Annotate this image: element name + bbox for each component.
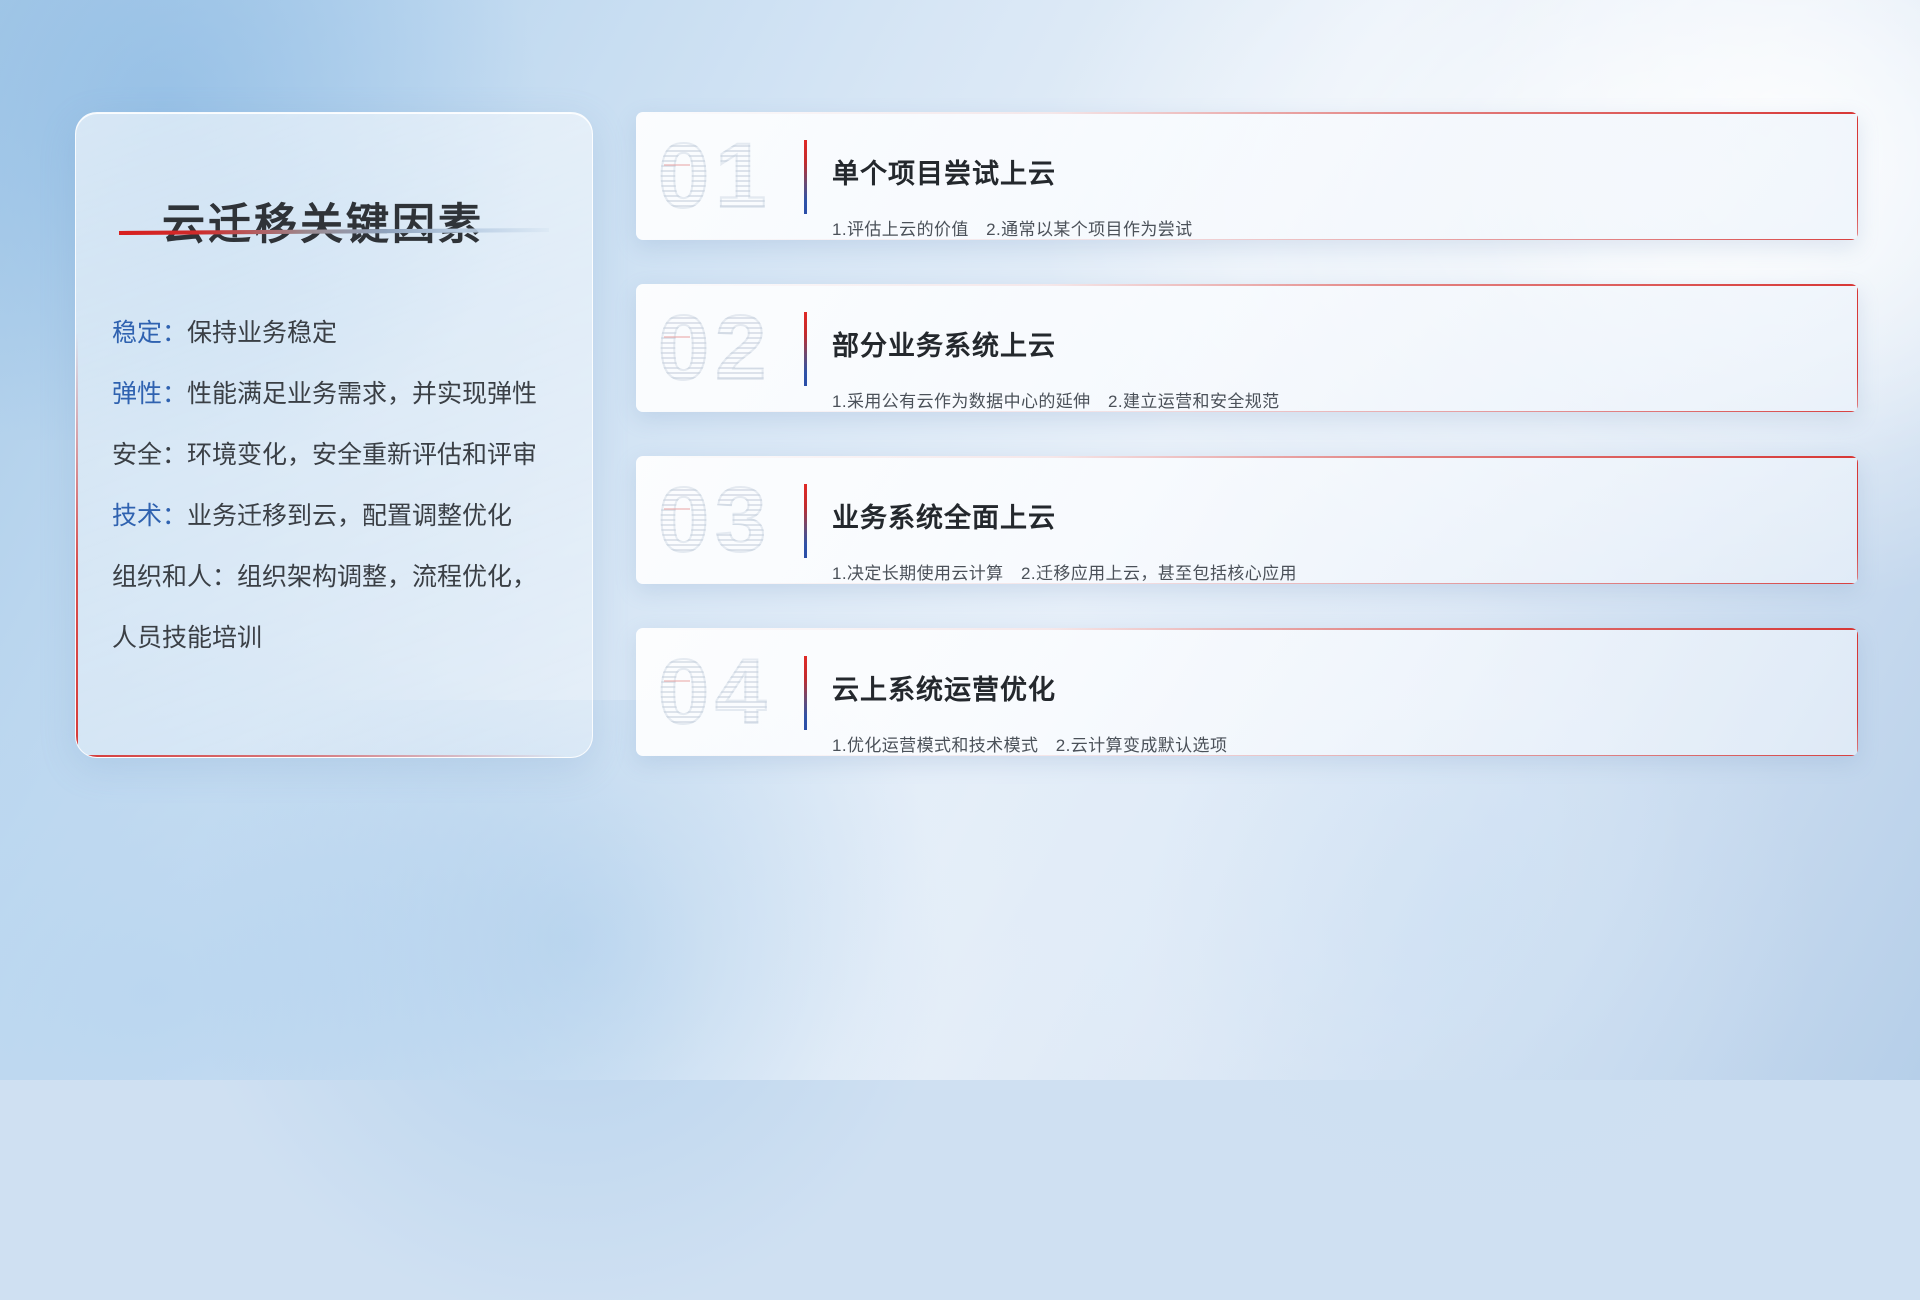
stage-card-list: 01单个项目尝试上云1.评估上云的价值 2.通常以某个项目作为尝试02部分业务系… xyxy=(636,112,1858,800)
key-factor-text: 人员技能培训 xyxy=(112,624,262,652)
stage-divider-bar xyxy=(804,312,807,386)
stage-title: 单个项目尝试上云 xyxy=(832,158,1824,192)
stage-divider-bar xyxy=(804,484,807,558)
stage-divider-bar xyxy=(804,656,807,730)
stage-number-accent-tick xyxy=(664,336,690,338)
key-factor-row: 人员技能培训 xyxy=(112,608,568,669)
key-factor-row: 稳定：保持业务稳定 xyxy=(112,303,568,364)
key-factor-text: 业务迁移到云，配置调整优化 xyxy=(187,502,512,530)
stage-number-watermark: 02 xyxy=(658,302,772,394)
stage-description: 1.采用公有云作为数据中心的延伸 2.建立运营和安全规范 xyxy=(832,387,1824,412)
stage-card[interactable]: 01单个项目尝试上云1.评估上云的价值 2.通常以某个项目作为尝试 xyxy=(636,112,1858,240)
stage-number-accent-tick xyxy=(664,508,690,510)
stage-card[interactable]: 02部分业务系统上云1.采用公有云作为数据中心的延伸 2.建立运营和安全规范 xyxy=(636,284,1858,412)
stage-number-watermark: 04 xyxy=(658,646,772,738)
stage-card[interactable]: 03业务系统全面上云1.决定长期使用云计算 2.迁移应用上云，甚至包括核心应用 xyxy=(636,456,1858,584)
key-factor-label: 技术： xyxy=(112,502,187,530)
stage-card[interactable]: 04云上系统运营优化1.优化运营模式和技术模式 2.云计算变成默认选项 xyxy=(636,628,1858,756)
key-factor-label: 组织和人： xyxy=(112,563,237,591)
stage-title: 业务系统全面上云 xyxy=(832,502,1824,536)
stage-card-bottom-rule xyxy=(636,239,1858,241)
stage-title: 部分业务系统上云 xyxy=(832,330,1824,364)
key-factor-label: 安全： xyxy=(112,441,187,469)
key-factor-text: 环境变化，安全重新评估和评审 xyxy=(187,441,537,469)
key-factor-label: 稳定： xyxy=(112,319,187,347)
key-factor-text: 组织架构调整，流程优化， xyxy=(237,563,537,591)
stage-number-watermark: 01 xyxy=(658,130,772,222)
key-factor-text: 性能满足业务需求，并实现弹性 xyxy=(187,380,537,408)
key-factor-row: 安全：环境变化，安全重新评估和评审 xyxy=(112,425,568,486)
stage-number-watermark: 03 xyxy=(658,474,772,566)
stage-card-bottom-rule xyxy=(636,755,1858,757)
stage-title: 云上系统运营优化 xyxy=(832,674,1824,708)
stage-divider-bar xyxy=(804,140,807,214)
key-factor-row: 弹性：性能满足业务需求，并实现弹性 xyxy=(112,364,568,425)
stage-card-body: 业务系统全面上云1.决定长期使用云计算 2.迁移应用上云，甚至包括核心应用 xyxy=(832,480,1824,584)
stage-card-bottom-rule xyxy=(636,583,1858,585)
key-factor-text: 保持业务稳定 xyxy=(187,319,337,347)
stage-description: 1.优化运营模式和技术模式 2.云计算变成默认选项 xyxy=(832,731,1824,756)
key-factors-list: 稳定：保持业务稳定弹性：性能满足业务需求，并实现弹性安全：环境变化，安全重新评估… xyxy=(112,303,568,669)
key-factors-panel: 云迁移关键因素 稳定：保持业务稳定弹性：性能满足业务需求，并实现弹性安全：环境变… xyxy=(75,112,593,758)
stage-number-accent-tick xyxy=(664,164,690,166)
stage-card-body: 云上系统运营优化1.优化运营模式和技术模式 2.云计算变成默认选项 xyxy=(832,652,1824,756)
stage-number-accent-tick xyxy=(664,680,690,682)
stage-description: 1.决定长期使用云计算 2.迁移应用上云，甚至包括核心应用 xyxy=(832,559,1824,584)
stage-card-body: 部分业务系统上云1.采用公有云作为数据中心的延伸 2.建立运营和安全规范 xyxy=(832,308,1824,412)
stage-card-body: 单个项目尝试上云1.评估上云的价值 2.通常以某个项目作为尝试 xyxy=(832,136,1824,240)
key-factor-label: 弹性： xyxy=(112,380,187,408)
slide-stage: 云迁移关键因素 稳定：保持业务稳定弹性：性能满足业务需求，并实现弹性安全：环境变… xyxy=(0,0,1920,1080)
stage-description: 1.评估上云的价值 2.通常以某个项目作为尝试 xyxy=(832,215,1824,240)
stage-card-bottom-rule xyxy=(636,411,1858,413)
panel-title: 云迁移关键因素 xyxy=(162,190,484,252)
key-factor-row: 组织和人：组织架构调整，流程优化， xyxy=(112,547,568,608)
key-factor-row: 技术：业务迁移到云，配置调整优化 xyxy=(112,486,568,547)
